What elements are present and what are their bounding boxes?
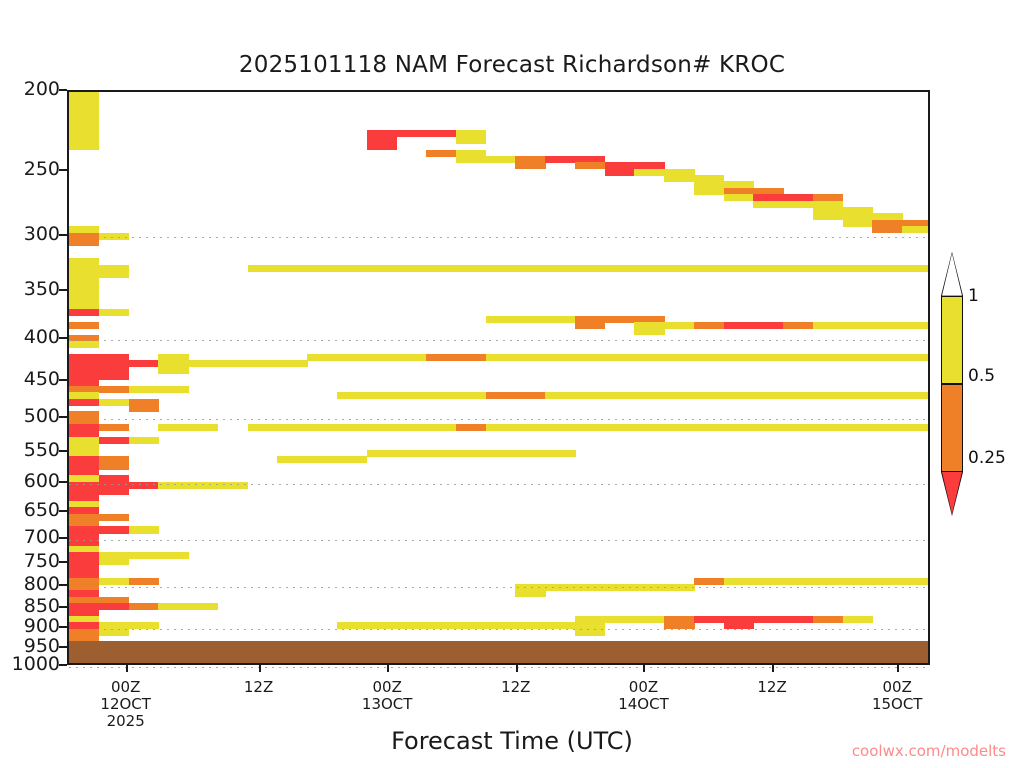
heatmap-cell (843, 213, 873, 226)
heatmap-cell (843, 392, 873, 399)
heatmap-cell (813, 322, 843, 329)
heatmap-cell (426, 392, 456, 399)
x-tick-label: 00Z14OCT (583, 679, 703, 713)
y-tick-mark (59, 289, 67, 291)
heatmap-cell (218, 360, 248, 367)
heatmap-cell (486, 450, 516, 457)
heatmap-cell (813, 354, 843, 361)
x-tick-label: 00Z12OCT2025 (66, 679, 186, 730)
heatmap-cell (99, 399, 129, 406)
heatmap-cell (129, 603, 159, 610)
y-tick-mark (59, 234, 67, 236)
y-tick-label: 200 (0, 78, 60, 100)
heatmap-cell (188, 603, 218, 610)
heatmap-cell (753, 616, 783, 623)
heatmap-cell (396, 354, 426, 361)
heatmap-cell (783, 424, 813, 431)
heatmap-cell (813, 424, 843, 431)
heatmap-cell (129, 526, 159, 533)
heatmap-cell (69, 514, 99, 527)
heatmap-cell (367, 265, 397, 272)
heatmap-cell (605, 616, 635, 623)
heatmap-cell (902, 322, 928, 329)
heatmap-cell (69, 629, 99, 642)
y-tick-label: 500 (0, 405, 60, 427)
heatmap-cell (129, 482, 159, 489)
y-tick-mark (59, 510, 67, 512)
heatmap-cell (575, 584, 605, 591)
heatmap-cell (456, 622, 486, 629)
heatmap-cell (99, 552, 129, 565)
heatmap-cell (158, 552, 188, 559)
heatmap-cell (634, 616, 664, 623)
heatmap-cell (69, 290, 99, 310)
heatmap-cell (69, 463, 99, 476)
heatmap-cell (69, 265, 99, 285)
heatmap-cell (337, 265, 367, 272)
y-tick-mark (59, 664, 67, 666)
heatmap-cell (813, 392, 843, 399)
heatmap-cell (664, 322, 694, 329)
heatmap-cell (69, 411, 99, 424)
heatmap-cell (337, 456, 367, 463)
heatmap-cell (515, 354, 545, 361)
heatmap-cell (872, 220, 902, 233)
heatmap-cell (129, 437, 159, 444)
heatmap-cell (783, 201, 813, 208)
heatmap-cell (813, 207, 843, 220)
heatmap-cell (456, 156, 486, 163)
heatmap-cell (664, 584, 694, 591)
y-tick-mark (59, 537, 67, 539)
heatmap-cell (486, 622, 516, 629)
heatmap-cell (69, 533, 99, 546)
heatmap-cell (337, 424, 367, 431)
heatmap-cell (872, 354, 902, 361)
heatmap-cell (486, 392, 516, 399)
heatmap-cell (843, 354, 873, 361)
x-tick-label: 00Z13OCT (327, 679, 447, 713)
heatmap-cell (634, 169, 664, 176)
heatmap-cell (545, 424, 575, 431)
heatmap-cell (724, 194, 754, 201)
y-tick-label: 750 (0, 550, 60, 572)
colorbar-tick-label: 0.25 (968, 448, 1006, 468)
heatmap-cell (69, 233, 99, 246)
x-tick-line: 00Z (583, 679, 703, 696)
heatmap-cell (69, 341, 99, 348)
heatmap-cell (545, 584, 575, 591)
heatmap-cell (248, 424, 278, 431)
heatmap-cell (872, 424, 902, 431)
colorbar-tick-label: 0.5 (968, 366, 995, 386)
y-tick-mark (59, 89, 67, 91)
heatmap-cell (813, 616, 843, 623)
heatmap-cell (307, 265, 337, 272)
heatmap-cell (605, 316, 635, 323)
heatmap-cell (783, 616, 813, 623)
heatmap-cell (367, 130, 397, 150)
heatmap-cell (664, 175, 694, 182)
heatmap-cell (515, 156, 545, 169)
y-tick-label: 250 (0, 158, 60, 180)
y-tick-mark (59, 584, 67, 586)
heatmap-cell (515, 316, 545, 323)
y-tick-mark (59, 606, 67, 608)
heatmap-cell (248, 265, 278, 272)
heatmap-cell (69, 482, 99, 502)
heatmap-cell (129, 622, 159, 629)
colorbar-arrow-down (941, 472, 963, 516)
heatmap-cell (605, 162, 635, 175)
heatmap-cell (753, 578, 783, 585)
heatmap-cell (456, 450, 486, 457)
heatmap-cell (813, 578, 843, 585)
heatmap-cell (337, 354, 367, 361)
heatmap-cell (99, 233, 129, 240)
heatmap-cell (634, 424, 664, 431)
heatmap-cell (753, 265, 783, 272)
heatmap-cell (129, 552, 159, 559)
heatmap-cell (307, 456, 337, 463)
heatmap-cell (218, 482, 248, 489)
heatmap-cell (724, 265, 754, 272)
heatmap-cell (188, 424, 218, 431)
heatmap-cell (69, 603, 99, 616)
y-tick-mark (59, 169, 67, 171)
colorbar-segment (941, 296, 963, 384)
heatmap-cell (753, 392, 783, 399)
heatmap-cell (783, 392, 813, 399)
x-tick-label: 00Z15OCT (837, 679, 957, 713)
y-tick-label: 300 (0, 223, 60, 245)
heatmap-cell (486, 265, 516, 272)
heatmap-cell (753, 201, 783, 208)
heatmap-cell (456, 392, 486, 399)
heatmap-cell (902, 354, 928, 361)
x-tick-mark (387, 665, 389, 672)
heatmap-cell (158, 386, 188, 393)
heatmap-cell (694, 322, 724, 329)
heatmap-cell (486, 354, 516, 361)
heatmap-cell (575, 424, 605, 431)
heatmap-cell (426, 354, 456, 361)
heatmap-cell (545, 265, 575, 272)
heatmap-cell (545, 450, 575, 457)
heatmap-cell (99, 437, 129, 444)
heatmap-cell (396, 265, 426, 272)
y-tick-label: 550 (0, 439, 60, 461)
x-tick-mark (126, 665, 128, 672)
heatmap-cell (515, 450, 545, 457)
heatmap-cell (486, 156, 516, 163)
heatmap-cell (634, 392, 664, 399)
heatmap-cell (277, 456, 307, 463)
heatmap-cell (99, 456, 129, 469)
y-tick-label: 350 (0, 278, 60, 300)
heatmap-cell (396, 392, 426, 399)
y-tick-mark (59, 416, 67, 418)
heatmap-cell (69, 552, 99, 578)
heatmap-cell (129, 578, 159, 585)
x-tick-label: 12Z (712, 679, 832, 696)
heatmap-cell (426, 424, 456, 431)
heatmap-cell (664, 616, 694, 629)
heatmap-cell (724, 392, 754, 399)
heatmap-cell (456, 424, 486, 431)
heatmap-cell (426, 150, 456, 157)
heatmap-cell (605, 354, 635, 361)
x-tick-line: 00Z (837, 679, 957, 696)
heatmap-cell (69, 322, 99, 329)
x-tick-line: 00Z (66, 679, 186, 696)
heatmap-cell (69, 360, 99, 386)
heatmap-cell (902, 392, 928, 399)
heatmap-cell (248, 360, 278, 367)
heatmap-cell (545, 392, 575, 399)
heatmap-cell (456, 130, 486, 143)
terrain-band (69, 641, 928, 663)
heatmap-cell (634, 584, 664, 591)
heatmap-cell (664, 265, 694, 272)
heatmap-cells (69, 92, 928, 663)
heatmap-cell (694, 578, 724, 585)
y-tick-label: 1000 (0, 653, 60, 675)
heatmap-cell (158, 603, 188, 610)
x-tick-label: 12Z (456, 679, 576, 696)
heatmap-cell (634, 354, 664, 361)
heatmap-cell (724, 424, 754, 431)
heatmap-cell (99, 526, 129, 533)
x-tick-mark (516, 665, 518, 672)
heatmap-cell (158, 424, 188, 431)
x-tick-mark (643, 665, 645, 672)
credit-text: coolwx.com/modelts (852, 742, 1006, 760)
colorbar (941, 296, 963, 472)
heatmap-cell (843, 265, 873, 272)
heatmap-cell (515, 392, 545, 399)
y-tick-mark (59, 481, 67, 483)
heatmap-cell (515, 265, 545, 272)
heatmap-cell (99, 622, 129, 635)
heatmap-cell (753, 354, 783, 361)
heatmap-cell (426, 265, 456, 272)
y-tick-mark (59, 450, 67, 452)
heatmap-cell (99, 360, 129, 373)
heatmap-cell (396, 450, 426, 457)
heatmap-cell (188, 482, 218, 489)
heatmap-cell (605, 265, 635, 272)
heatmap-cell (694, 392, 724, 399)
heatmap-cell (872, 578, 902, 585)
x-tick-line: 12Z (456, 679, 576, 696)
heatmap-cell (396, 424, 426, 431)
y-tick-mark (59, 561, 67, 563)
y-tick-mark (59, 626, 67, 628)
heatmap-cell (158, 360, 188, 373)
heatmap-cell (99, 386, 129, 393)
heatmap-cell (367, 392, 397, 399)
heatmap-cell (575, 354, 605, 361)
heatmap-cell (634, 265, 664, 272)
heatmap-cell (367, 622, 397, 629)
x-tick-line: 00Z (327, 679, 447, 696)
x-tick-mark (772, 665, 774, 672)
heatmap-cell (307, 354, 337, 361)
heatmap-cell (753, 322, 783, 329)
y-tick-label: 850 (0, 595, 60, 617)
x-tick-line: 14OCT (583, 696, 703, 713)
heatmap-cell (69, 578, 99, 591)
heatmap-cell (99, 265, 129, 278)
heatmap-cell (396, 622, 426, 629)
heatmap-cell (605, 392, 635, 399)
heatmap-cell (367, 424, 397, 431)
y-tick-label: 700 (0, 526, 60, 548)
heatmap-cell (99, 578, 129, 585)
heatmap-cell (99, 514, 129, 521)
heatmap-cell (575, 616, 605, 636)
heatmap-cell (545, 622, 575, 629)
x-tick-line: 12Z (712, 679, 832, 696)
heatmap-cell (664, 354, 694, 361)
heatmap-cell (277, 424, 307, 431)
heatmap-cell (129, 386, 159, 393)
heatmap-cell (575, 265, 605, 272)
heatmap-cell (307, 424, 337, 431)
heatmap-cell (724, 354, 754, 361)
chart-root: 2025101118 NAM Forecast Richardson# KROC… (0, 0, 1024, 768)
heatmap-cell (396, 130, 426, 137)
y-tick-label: 650 (0, 499, 60, 521)
colorbar-tick-label: 1 (968, 286, 979, 306)
heatmap-cell (664, 392, 694, 399)
y-tick-mark (59, 379, 67, 381)
heatmap-cell (277, 265, 307, 272)
heatmap-cell (99, 603, 129, 610)
heatmap-cell (99, 373, 129, 380)
heatmap-cell (694, 616, 724, 623)
heatmap-cell (69, 309, 99, 316)
heatmap-cell (902, 578, 928, 585)
heatmap-cell (426, 130, 456, 137)
heatmap-cell (515, 584, 545, 597)
heatmap-cell (337, 622, 367, 629)
heatmap-cell (783, 322, 813, 329)
heatmap-cell (843, 616, 873, 623)
y-tick-mark (59, 337, 67, 339)
x-tick-line: 12Z (199, 679, 319, 696)
heatmap-cell (188, 360, 218, 367)
heatmap-cell (575, 392, 605, 399)
heatmap-cell (783, 354, 813, 361)
heatmap-cell (456, 265, 486, 272)
y-tick-label: 600 (0, 470, 60, 492)
heatmap-cell (129, 360, 159, 367)
heatmap-cell (694, 424, 724, 431)
y-tick-label: 400 (0, 326, 60, 348)
heatmap-cell (456, 354, 486, 361)
heatmap-cell (545, 316, 575, 323)
heatmap-cell (367, 450, 397, 457)
heatmap-cell (575, 316, 605, 329)
heatmap-cell (902, 424, 928, 431)
heatmap-cell (753, 424, 783, 431)
heatmap-cell (843, 424, 873, 431)
page-title: 2025101118 NAM Forecast Richardson# KROC (0, 52, 1024, 78)
heatmap-plot-area (67, 90, 930, 665)
heatmap-cell (724, 322, 754, 329)
y-tick-label: 450 (0, 368, 60, 390)
heatmap-cell (872, 322, 902, 329)
heatmap-cell (426, 450, 456, 457)
x-tick-label: 12Z (199, 679, 319, 696)
heatmap-cell (99, 309, 129, 316)
heatmap-cell (872, 392, 902, 399)
heatmap-cell (575, 162, 605, 169)
heatmap-cell (69, 92, 99, 150)
heatmap-cell (99, 424, 129, 431)
x-tick-line: 12OCT (66, 696, 186, 713)
x-tick-mark (897, 665, 899, 672)
heatmap-cell (694, 181, 724, 194)
heatmap-cell (277, 360, 307, 367)
heatmap-cell (813, 265, 843, 272)
heatmap-cell (426, 622, 456, 629)
heatmap-cell (902, 265, 928, 272)
y-tick-mark (59, 646, 67, 648)
x-tick-line: 13OCT (327, 696, 447, 713)
heatmap-cell (724, 616, 754, 629)
heatmap-cell (129, 399, 159, 412)
heatmap-cell (664, 424, 694, 431)
x-tick-line: 15OCT (837, 696, 957, 713)
heatmap-cell (605, 424, 635, 431)
heatmap-cell (605, 584, 635, 591)
heatmap-cell (634, 322, 664, 335)
heatmap-cell (69, 399, 99, 406)
heatmap-cell (783, 578, 813, 585)
heatmap-cell (902, 226, 928, 233)
heatmap-cell (158, 482, 188, 489)
heatmap-cell (99, 482, 129, 495)
heatmap-cell (843, 322, 873, 329)
y-tick-label: 800 (0, 573, 60, 595)
heatmap-cell (515, 424, 545, 431)
heatmap-cell (694, 354, 724, 361)
heatmap-cell (69, 437, 99, 457)
heatmap-cell (545, 354, 575, 361)
heatmap-cell (783, 265, 813, 272)
colorbar-segment (941, 384, 963, 472)
heatmap-cell (724, 578, 754, 585)
heatmap-cell (872, 265, 902, 272)
heatmap-cell (486, 316, 516, 323)
heatmap-cell (545, 156, 575, 163)
heatmap-cell (486, 424, 516, 431)
heatmap-cell (843, 578, 873, 585)
heatmap-cell (515, 622, 545, 629)
x-tick-mark (259, 665, 261, 672)
heatmap-cell (694, 265, 724, 272)
heatmap-cell (337, 392, 367, 399)
heatmap-cell (367, 354, 397, 361)
